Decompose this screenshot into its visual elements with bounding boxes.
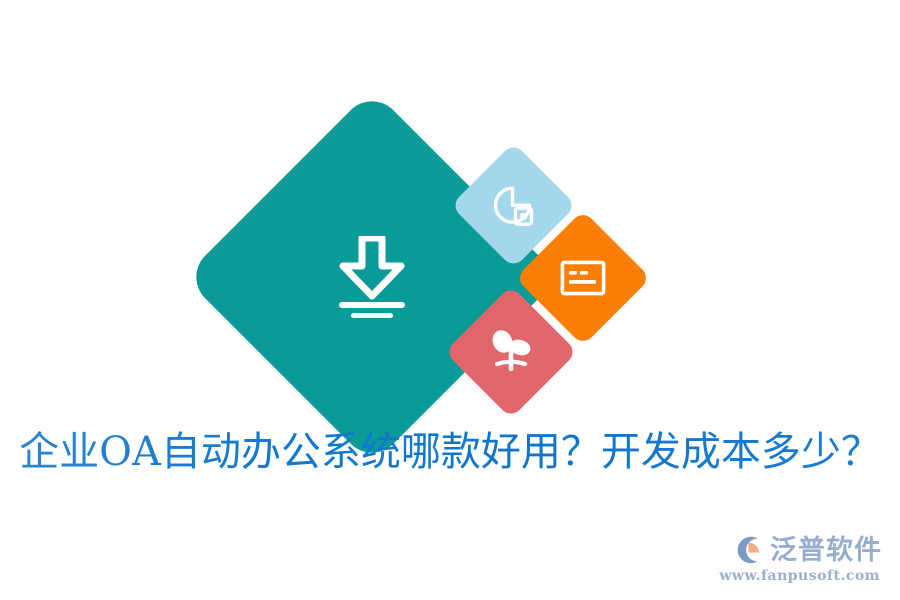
download-icon [334,236,410,318]
brand-watermark: 泛普软件 www.fanpusoft.com [719,535,882,584]
id-card-icon [560,260,606,296]
sprout-icon [487,329,535,375]
diamond-graphic-cluster [0,0,900,430]
poster-canvas: 企业OA自动办公系统哪款好用？开发成本多少？ 泛普软件 www.fanpusof… [0,0,900,600]
pie-chart-icon [492,184,536,228]
brand-row: 泛普软件 [735,535,882,565]
brand-url: www.fanpusoft.com [719,568,880,584]
brand-name: 泛普软件 [770,537,882,564]
fanpu-logo-icon [735,535,765,565]
page-title: 企业OA自动办公系统哪款好用？开发成本多少？ [0,419,900,477]
